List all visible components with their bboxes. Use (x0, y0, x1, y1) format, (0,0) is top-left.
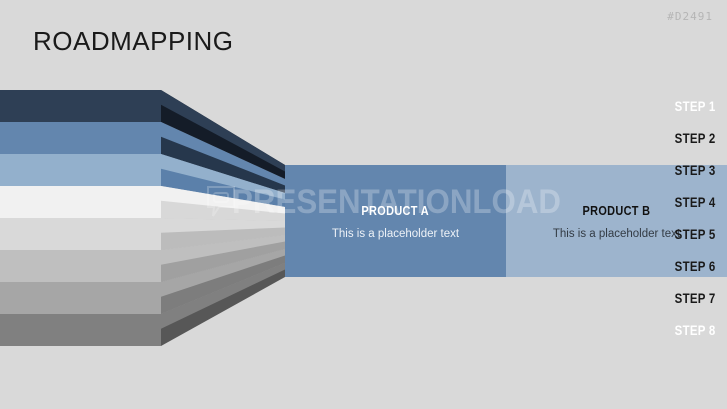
step-bar[interactable] (0, 122, 161, 154)
step-label-6[interactable]: STEP 6 (595, 250, 727, 282)
step-bar[interactable] (0, 314, 161, 346)
step-bar[interactable] (0, 218, 161, 250)
step-bar[interactable] (0, 282, 161, 314)
step-bar[interactable] (0, 186, 161, 218)
product-a-subtitle: This is a placeholder text (332, 228, 459, 240)
step-label-7[interactable]: STEP 7 (595, 282, 727, 314)
step-label-5[interactable]: STEP 5 (595, 218, 727, 250)
step-bar[interactable] (0, 90, 161, 122)
step-label-4[interactable]: STEP 4 (595, 186, 727, 218)
roadmapping-slide: ROADMAPPING #D2491 STEP 1STEP 2STEP 3STE… (0, 0, 727, 409)
step-label-1[interactable]: STEP 1 (595, 90, 727, 122)
step-label-2[interactable]: STEP 2 (595, 122, 727, 154)
step-label-8[interactable]: STEP 8 (595, 314, 727, 346)
step-label-3[interactable]: STEP 3 (595, 154, 727, 186)
step-bar[interactable] (0, 250, 161, 282)
step-bar[interactable] (0, 154, 161, 186)
product-card-a[interactable]: PRODUCT A This is a placeholder text (285, 165, 506, 277)
product-a-title: PRODUCT A (362, 203, 430, 218)
